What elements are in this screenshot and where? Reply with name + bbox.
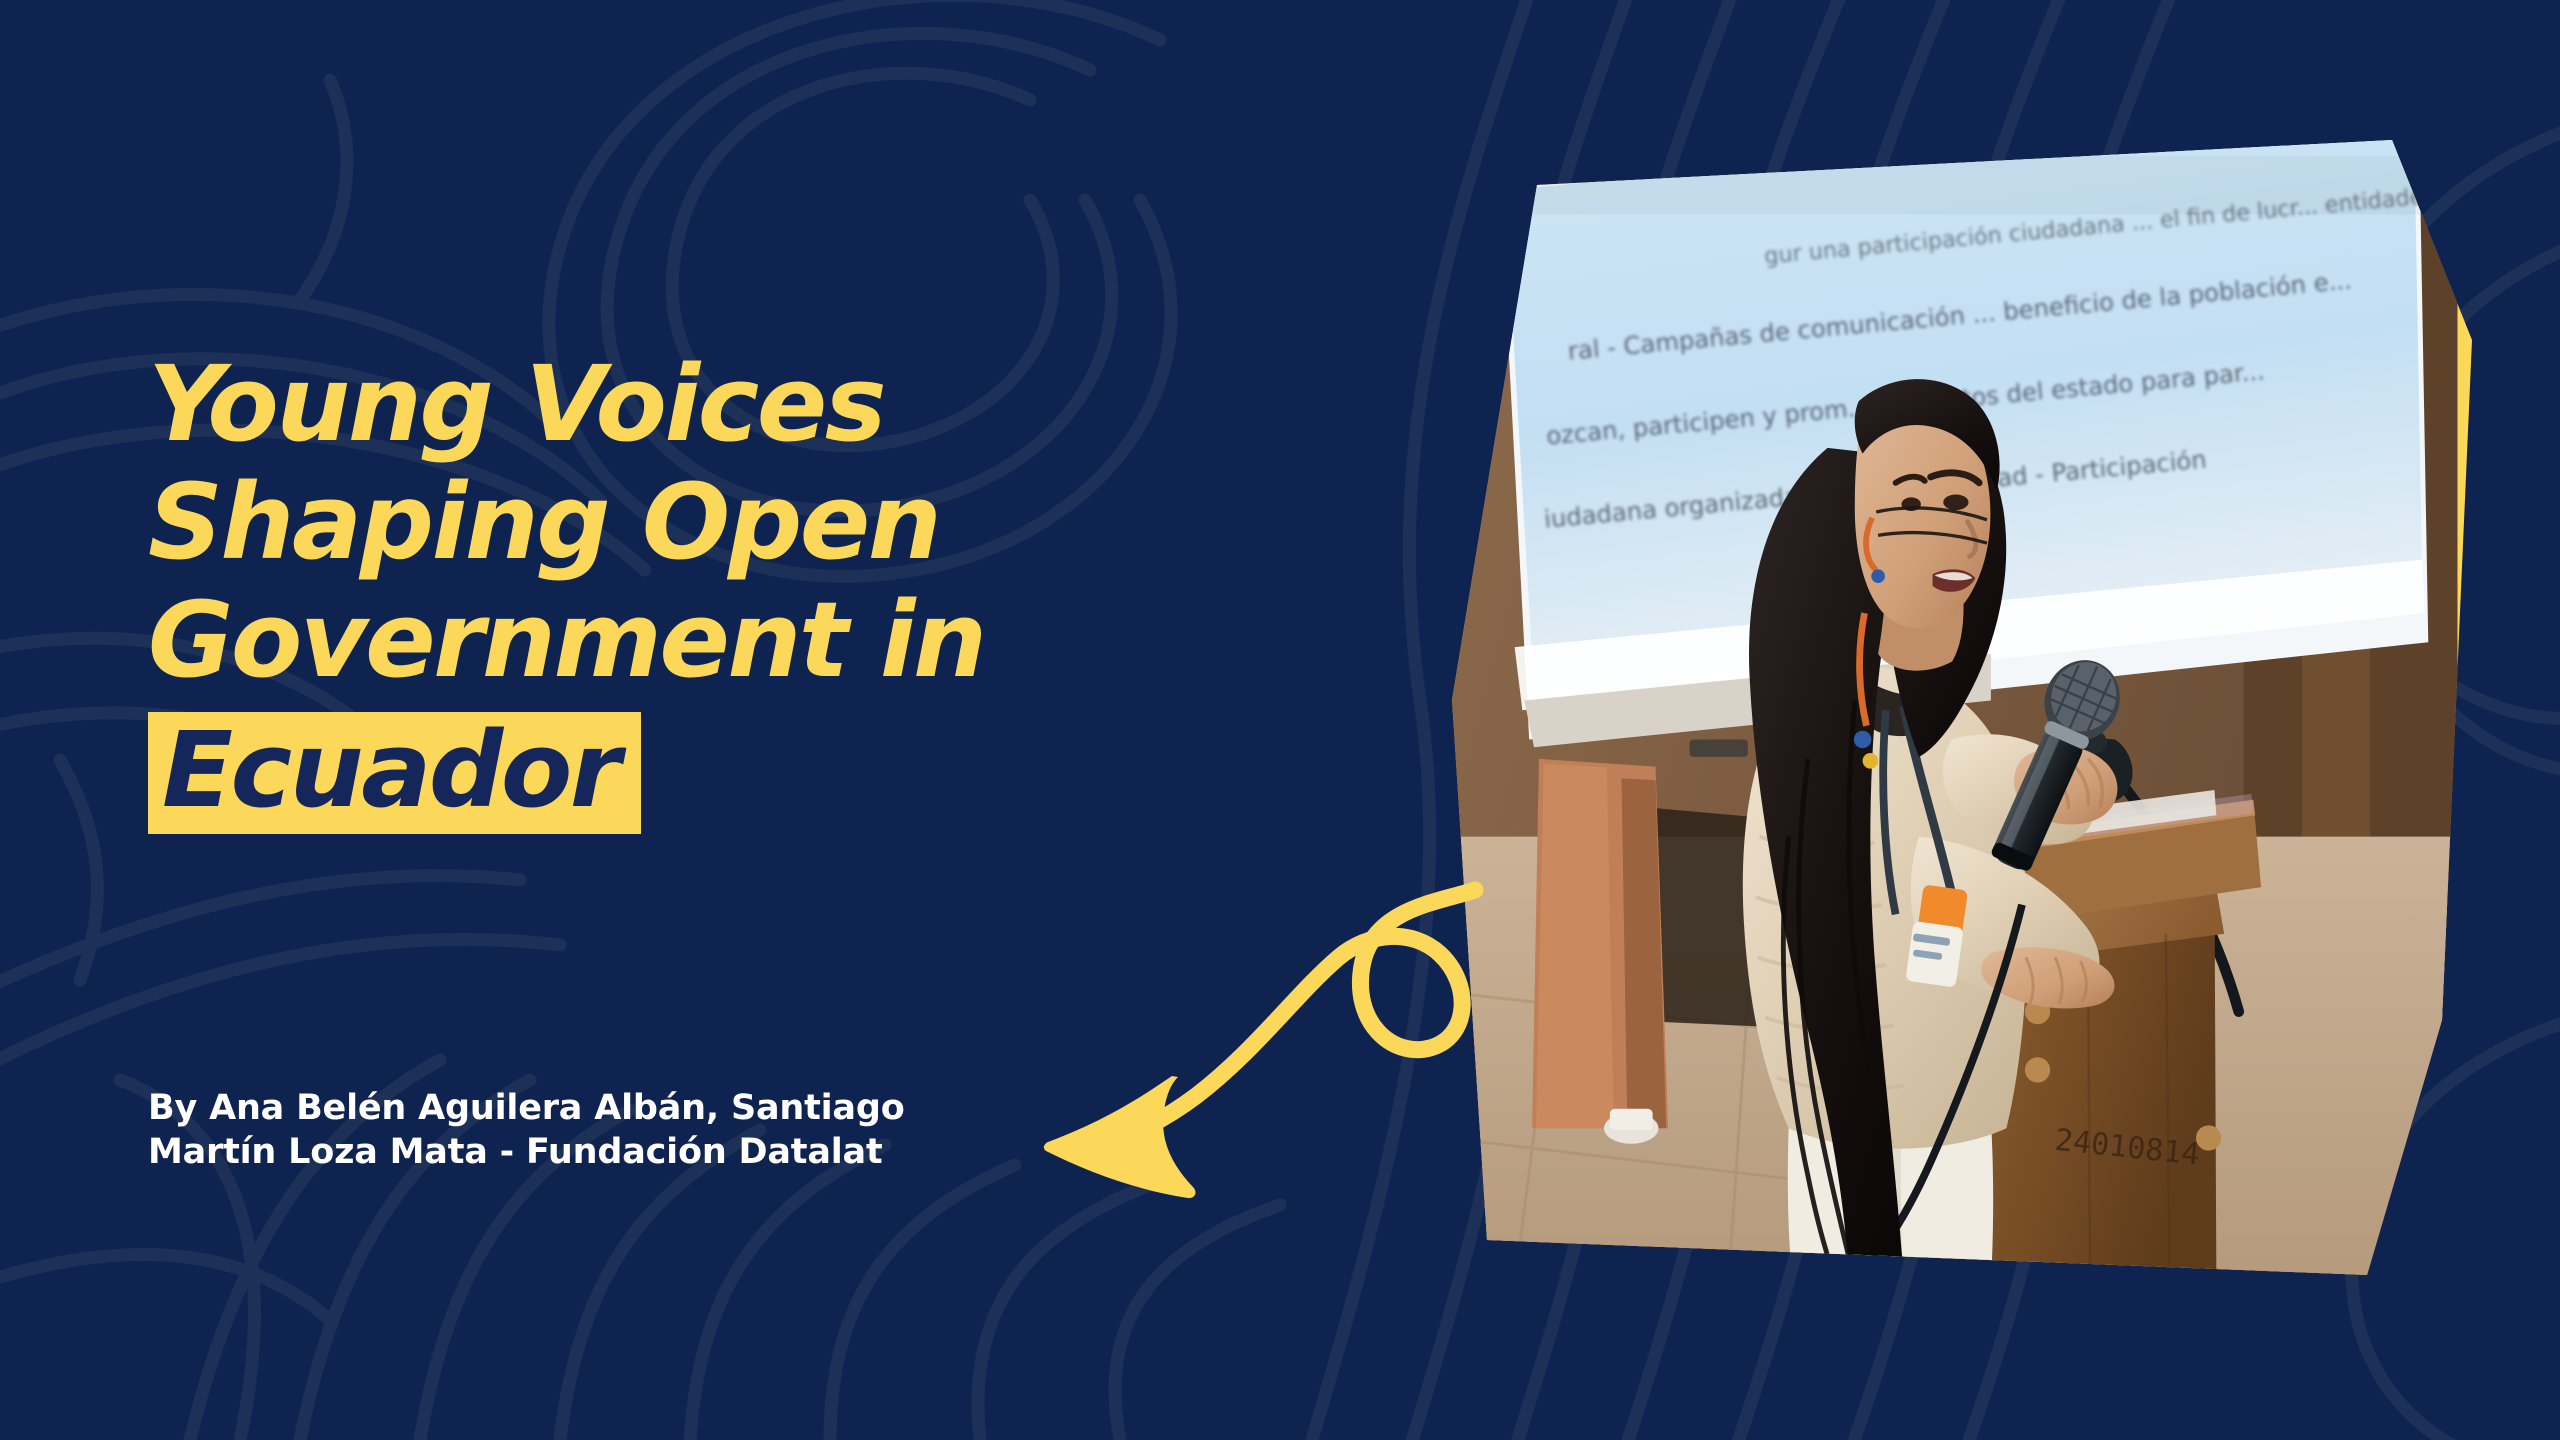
byline-line-2: Martín Loza Mata - Fundación Datalat bbox=[148, 1130, 1028, 1174]
headline-highlight-ecuador: Ecuador bbox=[148, 712, 641, 834]
arrow-head bbox=[1044, 1076, 1196, 1198]
headline-line-3: Government in bbox=[148, 588, 1228, 692]
headline-line-2: Shaping Open bbox=[148, 470, 1228, 574]
curly-arrow-left-icon bbox=[1020, 880, 1490, 1230]
article-hero-banner: Young Voices Shaping Open Government in … bbox=[0, 0, 2560, 1440]
byline-line-1: By Ana Belén Aguilera Albán, Santiago bbox=[148, 1086, 1028, 1130]
headline-line-1: Young Voices bbox=[148, 352, 1228, 456]
hero-photo: gur una participación ciudadana ... el f… bbox=[1432, 140, 2472, 1300]
photo-content: gur una participación ciudadana ... el f… bbox=[1447, 140, 2458, 1284]
page-title: Young Voices Shaping Open Government in … bbox=[148, 352, 1228, 834]
author-byline: By Ana Belén Aguilera Albán, Santiago Ma… bbox=[148, 1086, 1028, 1174]
